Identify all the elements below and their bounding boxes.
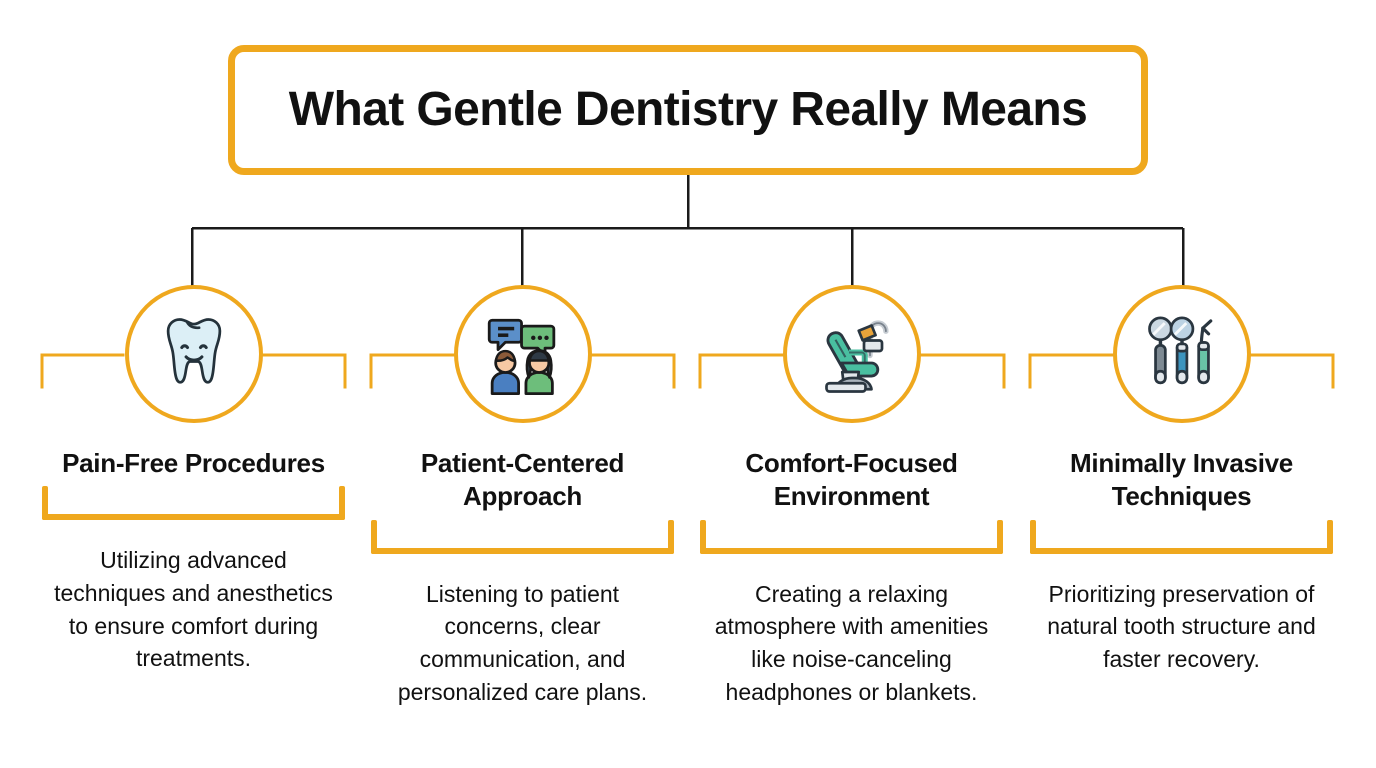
feature-column-3: Comfort-Focused Environment Creating a r… [700, 285, 1003, 708]
feature-heading-1: Pain-Free Procedures [42, 447, 345, 480]
two-people-speech-bubbles-icon [454, 285, 592, 423]
dental-chair-icon [783, 285, 921, 423]
feature-heading-3: Comfort-Focused Environment [700, 447, 1003, 514]
feature-body-3: Creating a relaxing atmosphere with amen… [700, 578, 1003, 709]
feature-bracket-1 [42, 486, 345, 520]
feature-bracket-3 [700, 520, 1003, 554]
feature-heading-4: Minimally Invasive Techniques [1030, 447, 1333, 514]
feature-body-4: Prioritizing preservation of natural too… [1030, 578, 1333, 676]
feature-heading-2: Patient-Centered Approach [371, 447, 674, 514]
dental-tools-icon [1113, 285, 1251, 423]
feature-bracket-2 [371, 520, 674, 554]
feature-body-2: Listening to patient concerns, clear com… [371, 578, 674, 709]
feature-body-1: Utilizing advanced techniques and anesth… [42, 544, 345, 675]
feature-bracket-4 [1030, 520, 1333, 554]
infographic-canvas: What Gentle Dentistry Really Means [0, 0, 1376, 768]
feature-column-1: Pain-Free Procedures Utilizing advanced … [42, 285, 345, 675]
page-title: What Gentle Dentistry Really Means [289, 84, 1087, 137]
title-box: What Gentle Dentistry Really Means [228, 45, 1148, 175]
smiling-tooth-icon [125, 285, 263, 423]
feature-column-4: Minimally Invasive Techniques Prioritizi… [1030, 285, 1333, 676]
feature-column-2: Patient-Centered Approach Listening to p… [371, 285, 674, 708]
